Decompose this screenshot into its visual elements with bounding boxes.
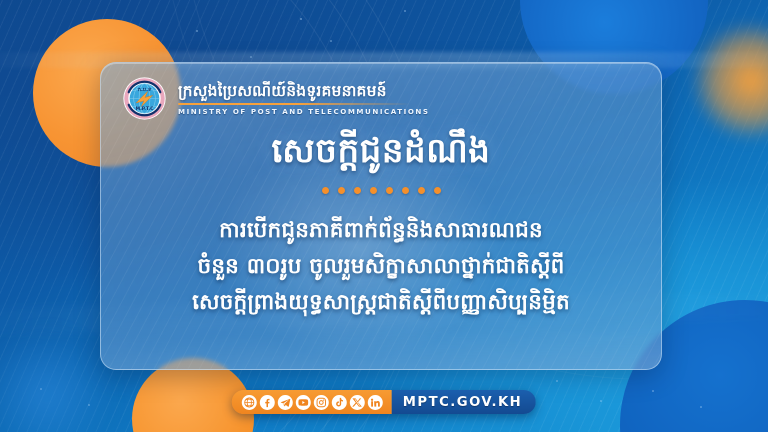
dot-separator [101, 187, 661, 194]
separator-dot [402, 187, 409, 194]
announcement-body-line: ចំនួន ៣០រូប ចូលរួមសិក្ខាសាលាថ្នាក់ជាតិស្… [115, 249, 647, 285]
sparkle-dot [330, 40, 332, 42]
announcement-body-line: សេចក្ដីព្រាងយុទ្ធសាស្ត្រជាតិស្ដីពីបញ្ញាស… [115, 285, 647, 321]
linkedin-icon[interactable] [368, 395, 383, 410]
sparkle-dot [196, 30, 198, 32]
mptc-ministry-emblem-icon: ក.ប.ទ M.P.T.C [122, 76, 167, 121]
sparkle-dot [250, 56, 252, 58]
sparkle-dot [88, 404, 90, 406]
website-globe-icon[interactable] [242, 395, 257, 410]
sparkle-dot [652, 390, 654, 392]
sparkle-dot [404, 10, 406, 12]
card-bottom-shade [101, 315, 661, 369]
header-orange-rule [178, 103, 410, 105]
website-url[interactable]: MPTC.GOV.KH [392, 390, 536, 414]
telegram-icon[interactable] [278, 395, 293, 410]
separator-dot [338, 187, 345, 194]
facebook-icon[interactable] [260, 395, 275, 410]
separator-dot [434, 187, 441, 194]
announcement-body-line: ការបើកជូនភាគីពាក់ព័ន្ធនិងសាធារណជន [115, 213, 647, 249]
blue-glow-bottom-left-decoration [0, 330, 112, 432]
tiktok-icon[interactable] [332, 395, 347, 410]
announcement-banner: ក.ប.ទ M.P.T.C ក្រសួងប្រៃសណីយ៍និងទូរគមនាគ… [0, 0, 768, 432]
footer-contact-pill: MPTC.GOV.KH [232, 390, 536, 414]
sparkle-dot [600, 400, 602, 402]
social-icon-group [232, 390, 392, 414]
separator-dot [418, 187, 425, 194]
instagram-icon[interactable] [314, 395, 329, 410]
sparkle-dot [556, 380, 558, 382]
separator-dot [354, 187, 361, 194]
announcement-title: សេចក្ដីជូនដំណឹង [101, 131, 661, 172]
orange-glow-top-right-decoration [692, 22, 768, 140]
ministry-name-english: MINISTRY OF POST AND TELECOMMUNICATIONS [178, 108, 430, 116]
x-twitter-icon[interactable] [350, 395, 365, 410]
ministry-name-khmer: ក្រសួងប្រៃសណីយ៍និងទូរគមនាគមន៍ [178, 83, 430, 101]
ministry-header: ក.ប.ទ M.P.T.C ក្រសួងប្រៃសណីយ៍និងទូរគមនាគ… [122, 76, 430, 121]
announcement-body: ការបើកជូនភាគីពាក់ព័ន្ធនិងសាធារណជន ចំនួន … [115, 213, 647, 321]
youtube-icon[interactable] [296, 395, 311, 410]
svg-text:M.P.T.C: M.P.T.C [136, 106, 154, 112]
announcement-card: ក.ប.ទ M.P.T.C ក្រសួងប្រៃសណីយ៍និងទូរគមនាគ… [100, 62, 662, 370]
sparkle-dot [700, 406, 702, 408]
separator-dot [322, 187, 329, 194]
sparkle-dot [40, 388, 42, 390]
sparkle-dot [300, 18, 302, 20]
svg-text:ក.ប.ទ: ក.ប.ទ [138, 87, 151, 93]
separator-dot [370, 187, 377, 194]
separator-dot [386, 187, 393, 194]
